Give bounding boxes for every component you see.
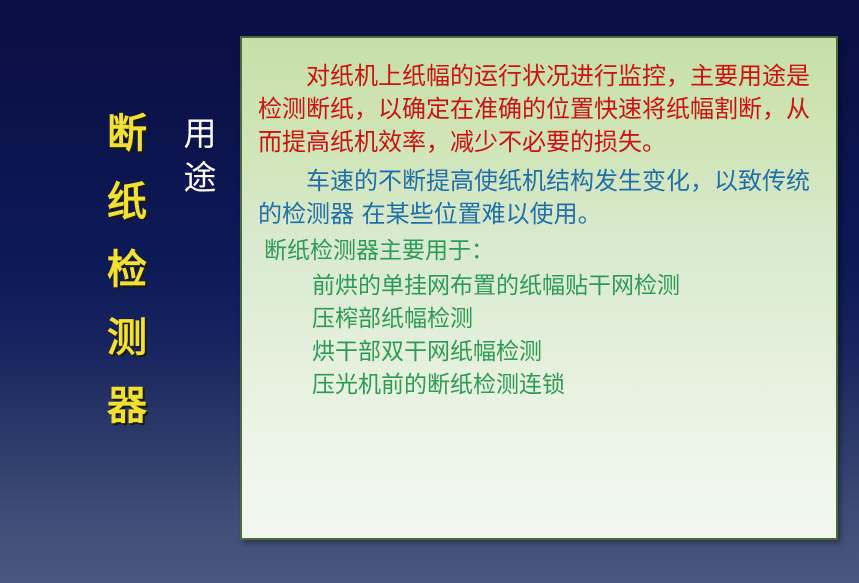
paragraph-blue: 车速的不断提高使纸机结构发生变化，以致传统的检测器 在某些位置难以使用。 [258,165,820,231]
list-item: 前烘的单挂网布置的纸幅贴干网检测 [312,270,820,303]
list-item: 压榨部纸幅检测 [312,303,820,336]
list-item: 压光机前的断纸检测连锁 [312,369,820,402]
content-panel: 对纸机上纸幅的运行状况进行监控，主要用途是检测断纸，以确定在准确的位置快速将纸幅… [240,36,838,540]
title-char-2: 纸 [95,168,159,236]
green-list: 前烘的单挂网布置的纸幅贴干网检测 压榨部纸幅检测 烘干部双干网纸幅检测 压光机前… [258,270,820,402]
title-char-4: 测 [95,304,159,372]
subtitle-char-1: 用 [172,112,228,156]
slide-subtitle-vertical: 用 途 [172,112,228,200]
list-item: 烘干部双干网纸幅检测 [312,336,820,369]
title-char-3: 检 [95,236,159,304]
title-char-1: 断 [95,100,159,168]
list-heading: 断纸检测器主要用于： [264,235,820,268]
title-char-5: 器 [95,372,159,440]
slide-canvas: 断 纸 检 测 器 用 途 对纸机上纸幅的运行状况进行监控，主要用途是检测断纸，… [0,0,859,583]
slide-title-vertical: 断 纸 检 测 器 [95,100,159,440]
paragraph-red: 对纸机上纸幅的运行状况进行监控，主要用途是检测断纸，以确定在准确的位置快速将纸幅… [258,60,820,159]
subtitle-char-2: 途 [172,156,228,200]
